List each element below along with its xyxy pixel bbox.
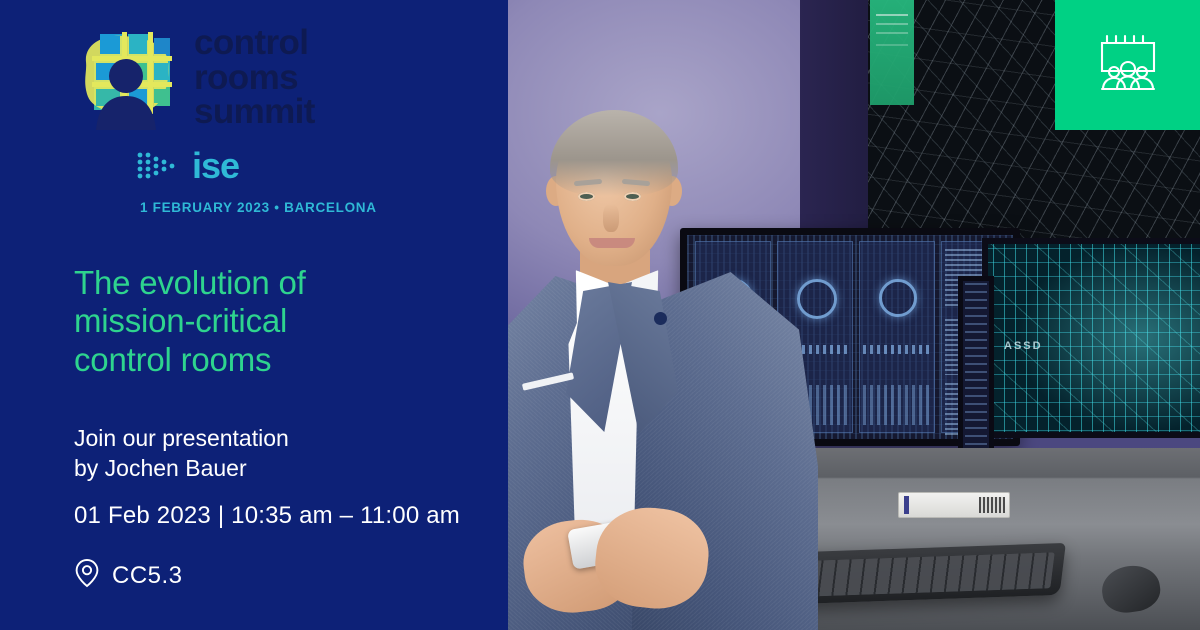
wordmark-line-3: summit <box>194 95 315 130</box>
venue-label: CC5.3 <box>112 562 183 590</box>
brand-lockup: control rooms summit <box>74 26 315 130</box>
speaker-mouth <box>589 238 635 248</box>
invite-line-2: by Jochen Bauer <box>74 454 494 484</box>
event-date-location: 1 FEBRUARY 2023 • BARCELONA <box>140 200 377 215</box>
headline-line-3: control rooms <box>74 341 474 379</box>
presentation-invite: Join our presentation by Jochen Bauer <box>74 424 494 484</box>
ise-wordmark: ise <box>192 148 239 184</box>
control-rooms-summit-mark-icon <box>74 26 178 130</box>
invite-line-1: Join our presentation <box>74 424 494 454</box>
location-pin-icon <box>74 558 100 593</box>
presentation-audience-icon <box>1097 34 1159 97</box>
presentation-badge <box>1055 0 1200 130</box>
ise-arrow-dots-icon <box>136 149 182 183</box>
speaker-nose <box>603 204 619 232</box>
headline-line-2: mission-critical <box>74 302 474 340</box>
speaker-eye-right <box>624 192 641 201</box>
session-venue: CC5.3 <box>74 558 183 593</box>
promo-banner: ASSD <box>0 0 1200 630</box>
info-panel: control rooms summit <box>0 0 508 630</box>
speaker-hair <box>550 110 678 196</box>
brand-wordmark: control rooms summit <box>194 26 315 130</box>
speaker-lapel-pin <box>654 312 667 325</box>
wordmark-line-2: rooms <box>194 61 315 96</box>
session-datetime: 01 Feb 2023 | 10:35 am – 11:00 am <box>74 502 460 530</box>
page-title: The evolution of mission-critical contro… <box>74 264 474 379</box>
wordmark-line-1: control <box>194 26 315 61</box>
speaker-eye-left <box>578 192 595 201</box>
headline-line-1: The evolution of <box>74 264 474 302</box>
ise-lockup: ise <box>136 148 239 184</box>
